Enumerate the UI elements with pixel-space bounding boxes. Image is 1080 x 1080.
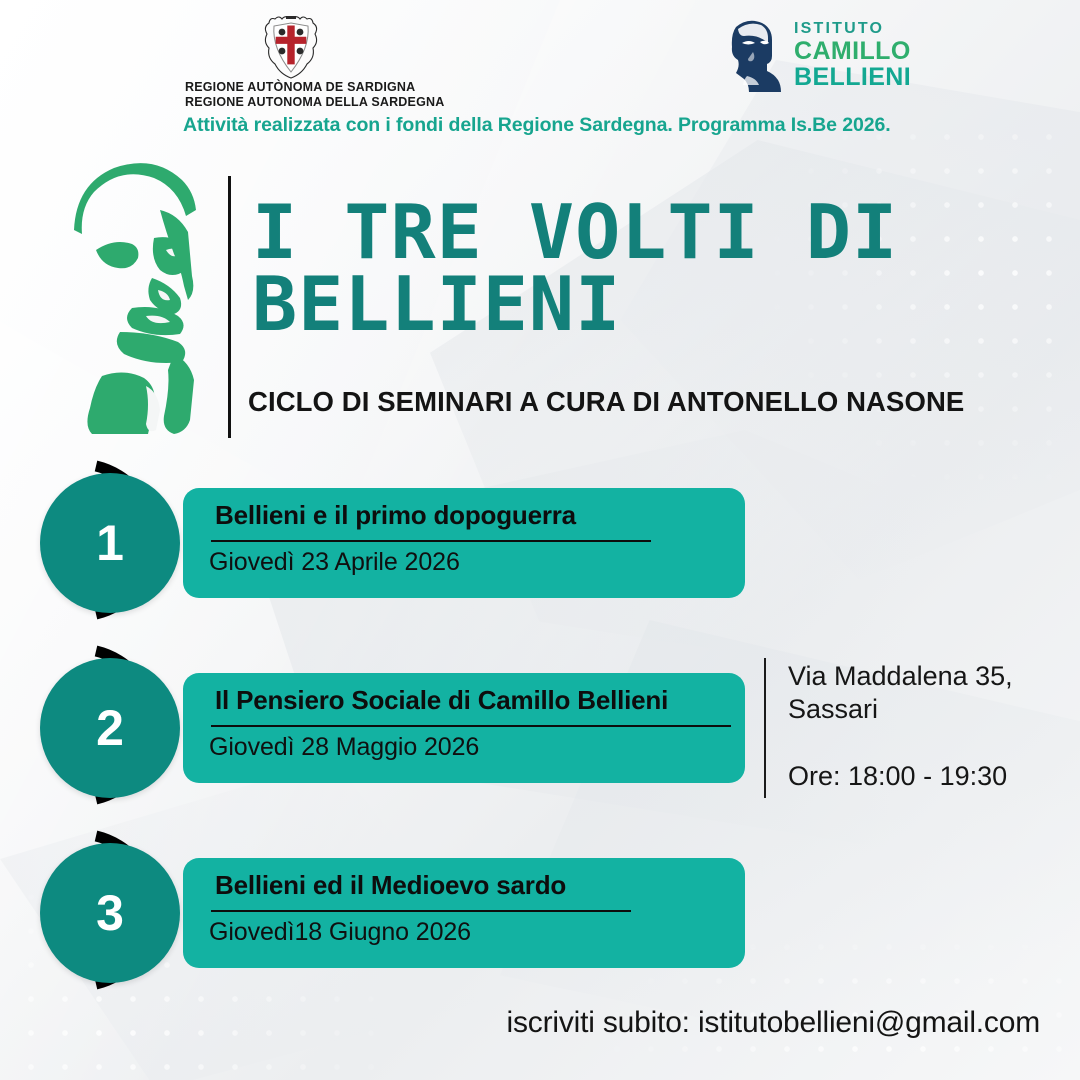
title-divider-rule xyxy=(228,176,231,438)
title-line-2: BELLIENI xyxy=(252,268,932,340)
institute-word-camillo: CAMILLO xyxy=(794,39,911,64)
seminar-title-underline xyxy=(211,725,731,727)
seminar-number: 3 xyxy=(96,888,124,938)
region-name-sardinian: REGIONE AUTÒNOMA DE SARDIGNA xyxy=(185,80,397,95)
seminar-date: Giovedì 23 Aprile 2026 xyxy=(209,548,460,577)
page-subtitle: CICLO DI SEMINARI A CURA DI ANTONELLO NA… xyxy=(248,386,964,418)
region-name-italian: REGIONE AUTONOMA DELLA SARDEGNA xyxy=(185,95,397,110)
seminar-number-badge: 2 xyxy=(40,658,180,798)
seminar-row: 1 Bellieni e il primo dopoguerra Giovedì… xyxy=(0,455,760,625)
seminar-card[interactable]: Bellieni e il primo dopoguerra Giovedì 2… xyxy=(183,488,745,598)
institute-logo-text: ISTITUTO CAMILLO BELLIENI xyxy=(794,21,911,90)
signup-contact[interactable]: iscriviti subito: istitutobellieni@gmail… xyxy=(0,1006,1040,1040)
seminar-number-badge: 3 xyxy=(40,843,180,983)
seminar-card[interactable]: Il Pensiero Sociale di Camillo Bellieni … xyxy=(183,673,745,783)
seminar-date: Giovedì 28 Maggio 2026 xyxy=(209,733,479,762)
seminar-title: Bellieni ed il Medioevo sardo xyxy=(215,870,725,901)
region-logo: REGIONE AUTÒNOMA DE SARDIGNA REGIONE AUT… xyxy=(185,14,397,110)
seminar-row: 2 Il Pensiero Sociale di Camillo Bellien… xyxy=(0,640,760,810)
seminar-title-underline xyxy=(211,540,651,542)
bellieni-face-silhouette-icon xyxy=(62,158,222,446)
seminar-row: 3 Bellieni ed il Medioevo sardo Giovedì1… xyxy=(0,825,760,995)
funding-note: Attività realizzata con i fondi della Re… xyxy=(183,114,943,137)
institute-logo: ISTITUTO CAMILLO BELLIENI xyxy=(722,16,911,94)
institute-word-bellieni: BELLIENI xyxy=(794,65,911,90)
seminar-title: Bellieni e il primo dopoguerra xyxy=(215,500,725,531)
venue-address: Via Maddalena 35, Sassari xyxy=(788,660,1068,726)
seminar-title-underline xyxy=(211,910,631,912)
seminar-date: Giovedì18 Giugno 2026 xyxy=(209,918,471,947)
poster-canvas: REGIONE AUTÒNOMA DE SARDIGNA REGIONE AUT… xyxy=(0,0,1080,1080)
seminar-card[interactable]: Bellieni ed il Medioevo sardo Giovedì18 … xyxy=(183,858,745,968)
venue-time: Ore: 18:00 - 19:30 xyxy=(788,761,1078,792)
venue-divider-rule xyxy=(764,658,766,798)
seminar-number: 2 xyxy=(96,703,124,753)
bellieni-portrait-icon xyxy=(722,16,784,94)
page-title: I TRE VOLTI DI BELLIENI xyxy=(252,196,932,340)
seminar-number: 1 xyxy=(96,518,124,568)
seminar-number-badge: 1 xyxy=(40,473,180,613)
sardinia-coat-of-arms-icon xyxy=(260,14,322,80)
institute-word-istituto: ISTITUTO xyxy=(794,21,911,37)
seminar-title: Il Pensiero Sociale di Camillo Bellieni xyxy=(215,685,725,716)
